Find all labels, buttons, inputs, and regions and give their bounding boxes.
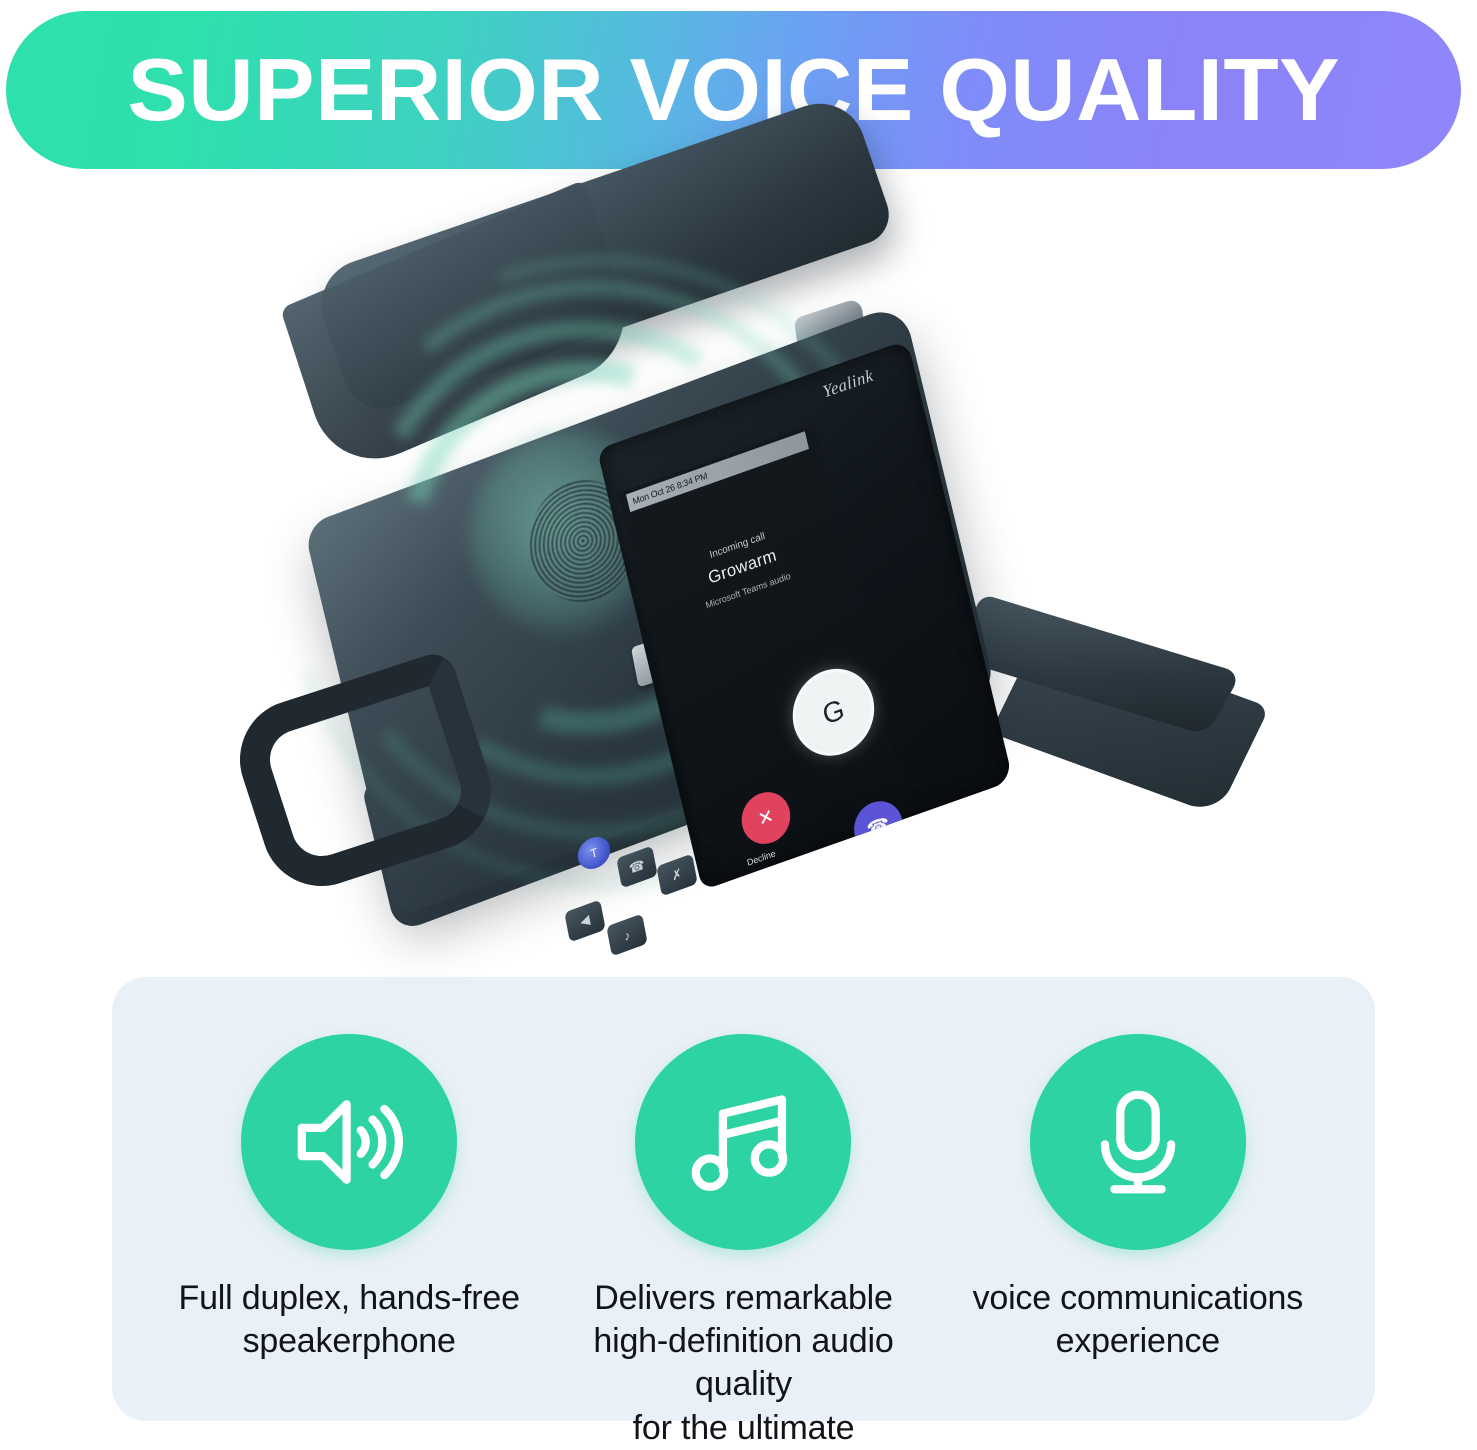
headset-icon: ☎ [628,856,646,877]
mute-icon: ✗ [670,865,683,885]
incoming-call-info: Incoming call Growarm Microsoft Teams au… [637,506,848,631]
feature-item-audio-quality: Delivers remarkable high-definition audi… [548,1034,938,1450]
features-panel: Full duplex, hands-free speakerphone Del… [112,977,1375,1421]
accept-call-label: Accept [862,857,890,876]
page-title: SUPERIOR VOICE QUALITY [127,46,1340,134]
decline-call-label: Decline [746,848,777,868]
feature-caption: voice communications experience [973,1277,1303,1363]
feature-caption: Full duplex, hands-free speakerphone [179,1277,520,1363]
close-icon: ✕ [756,804,776,832]
feature-caption: Delivers remarkable high-definition audi… [548,1277,938,1450]
headset-button[interactable]: ☎ [616,846,658,889]
feature-item-speakerphone: Full duplex, hands-free speakerphone [154,1034,544,1363]
volume-icon: ◀ [579,911,591,930]
decline-call-button[interactable]: ✕ [737,785,796,851]
microphone-icon [1079,1083,1197,1201]
speaker-icon [290,1083,408,1201]
feature-icon-wrap [241,1034,457,1250]
status-bar: Mon Oct 26 8:34 PM [626,431,809,512]
volume-button[interactable]: ◀ [564,900,606,943]
avatar-initial: G [819,693,847,732]
music-note-icon [684,1083,802,1201]
brand-logo: Yealink [821,365,876,402]
feature-item-voice-communications: voice communications experience [943,1034,1333,1363]
mute-button[interactable]: ✗ [656,854,698,897]
speakerphone-icon: ♪ [622,926,631,943]
teams-button-glyph: T [589,845,599,861]
avatar: G [784,657,883,767]
feature-icon-wrap [635,1034,851,1250]
phone-icon: ☎ [865,812,893,842]
product-image: 2ABC 3DEF 5JKL 6MNO 8TUV 9WXYZ 0+ # T ☎ … [0,160,1477,1010]
speakerphone-button[interactable]: ♪ [606,914,648,957]
accept-call-button[interactable]: ☎ [849,794,908,860]
feature-icon-wrap [1030,1034,1246,1250]
